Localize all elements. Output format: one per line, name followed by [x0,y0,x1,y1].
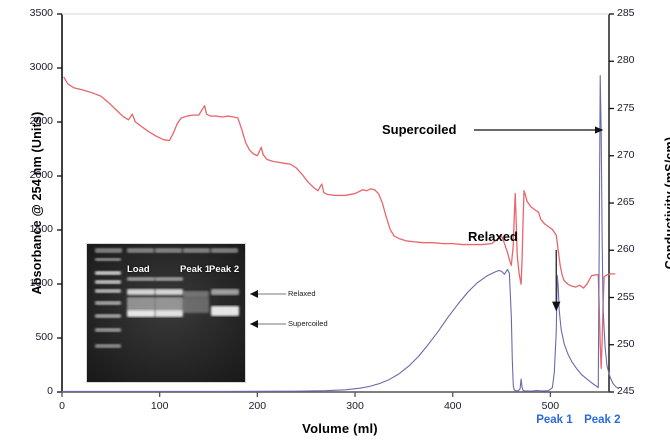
gel-band [155,310,183,317]
gel-band [127,277,155,281]
gel-lane-label-peak1: Peak 1 [180,264,210,275]
gel-band [95,248,122,253]
gel-band [95,289,121,293]
gel-band [155,277,183,281]
gel-band [155,289,183,295]
gel-band [211,289,239,295]
gel-annotation-supercoiled: Supercoiled [288,319,328,328]
gel-lane-label-load: Load [127,264,150,275]
gel-band [211,306,239,316]
gel-band [127,248,154,253]
annotation-relaxed: Relaxed [468,229,518,244]
gel-band [95,344,121,348]
gel-band [95,328,121,332]
gel-annotation-relaxed: Relaxed [288,289,316,298]
gel-band [183,297,209,313]
gel-arrow-supercoiled [250,320,258,328]
annotation-supercoiled: Supercoiled [382,122,456,137]
gel-band [95,314,121,318]
gel-band [95,258,121,261]
gel-band [155,248,182,253]
gel-arrow-relaxed [250,290,258,298]
chromatogram-figure: Absorbance @ 254 nm (Units) Conductivity… [0,0,670,443]
gel-band [211,248,238,253]
gel-band [127,297,155,311]
gel-band [127,289,155,295]
gel-band [155,297,183,311]
gel-band [183,291,209,297]
gel-electrophoresis-inset: Load Peak 1 Peak 2 [86,243,246,383]
gel-band [95,280,121,284]
gel-band [95,271,121,275]
gel-band [127,310,155,317]
gel-lane-label-peak2: Peak 2 [209,264,239,275]
gel-band [183,248,210,253]
gel-band [95,301,121,305]
